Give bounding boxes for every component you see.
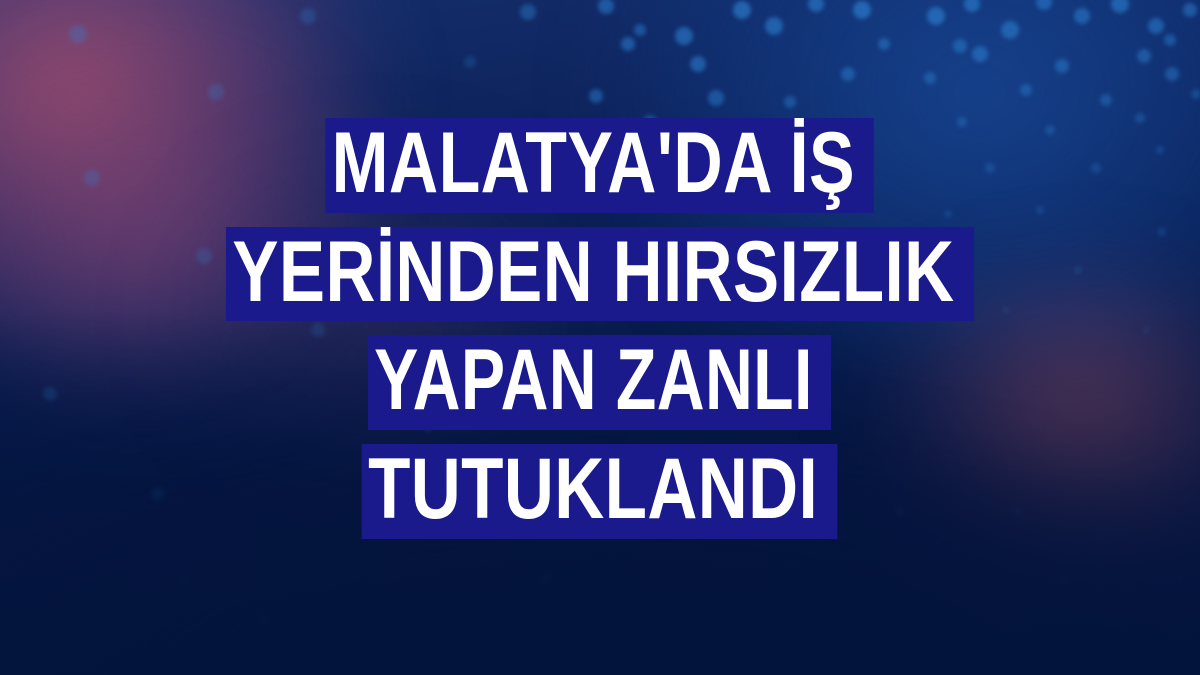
- headline-block: MALATYA'DA İŞ YERİNDEN HIRSIZLIK YAPAN Z…: [0, 118, 1200, 539]
- headline-line-3: YAPAN ZANLI: [368, 335, 831, 430]
- headline-line-4: TUTUKLANDI: [362, 444, 838, 539]
- headline-line-2: YERİNDEN HIRSIZLIK: [226, 227, 974, 322]
- headline-line-1: MALATYA'DA İŞ: [326, 118, 875, 213]
- news-banner: MALATYA'DA İŞ YERİNDEN HIRSIZLIK YAPAN Z…: [0, 0, 1200, 675]
